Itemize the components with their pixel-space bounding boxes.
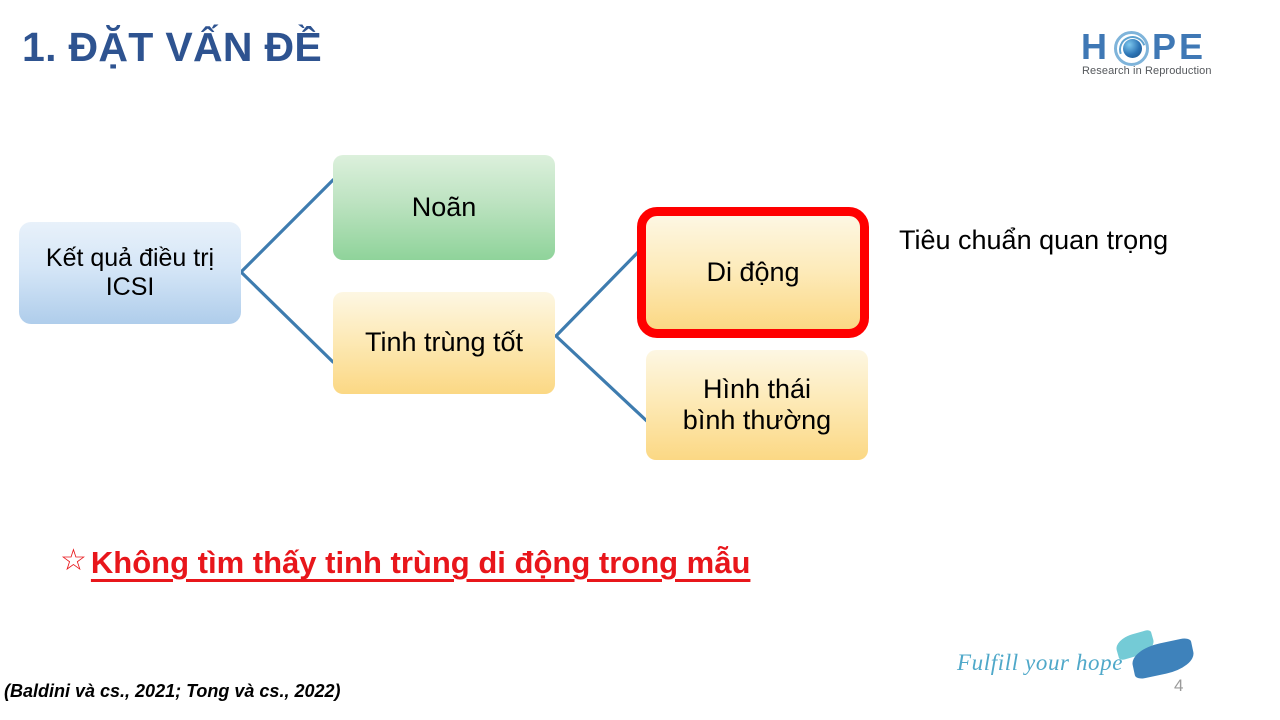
citation-footer: (Baldini và cs., 2021; Tong và cs., 2022… bbox=[4, 681, 340, 702]
node-motility-highlighted: Di động bbox=[637, 207, 869, 338]
node-normal-morphology: Hình thái bình thường bbox=[646, 350, 868, 460]
node-morphology-line1: Hình thái bbox=[703, 374, 811, 404]
flow-diagram: Kết quả điều trị ICSI Noãn Tinh trùng tố… bbox=[0, 0, 1280, 720]
node-oocyte: Noãn bbox=[333, 155, 555, 260]
connector-icsi-to-sperm bbox=[241, 272, 333, 362]
node-morphology-text: Hình thái bình thường bbox=[683, 374, 831, 437]
slide-number: 4 bbox=[1174, 676, 1183, 696]
brand-leaves-icon bbox=[1116, 633, 1194, 679]
criteria-note: Tiêu chuẩn quan trọng bbox=[899, 225, 1168, 256]
emphasis-text: Không tìm thấy tinh trùng di động trong … bbox=[91, 545, 751, 581]
connector-icsi-to-noan bbox=[241, 180, 333, 272]
connector-sperm-to-motility bbox=[556, 242, 648, 336]
node-morphology-line2: bình thường bbox=[683, 405, 831, 435]
connector-sperm-to-morphology bbox=[556, 336, 650, 424]
slide-canvas: 1. ĐẶT VẤN ĐỀ H P E Research in Reproduc… bbox=[0, 0, 1280, 720]
node-icsi-result: Kết quả điều trị ICSI bbox=[19, 222, 241, 324]
diagram-connectors bbox=[0, 0, 1280, 720]
emphasis-statement: ☆ Không tìm thấy tinh trùng di động tron… bbox=[60, 545, 750, 581]
node-motility-label: Di động bbox=[706, 257, 799, 288]
node-good-sperm: Tinh trùng tốt bbox=[333, 292, 555, 394]
star-icon: ☆ bbox=[60, 546, 87, 576]
brand-tagline: Fulfill your hope bbox=[957, 650, 1123, 676]
